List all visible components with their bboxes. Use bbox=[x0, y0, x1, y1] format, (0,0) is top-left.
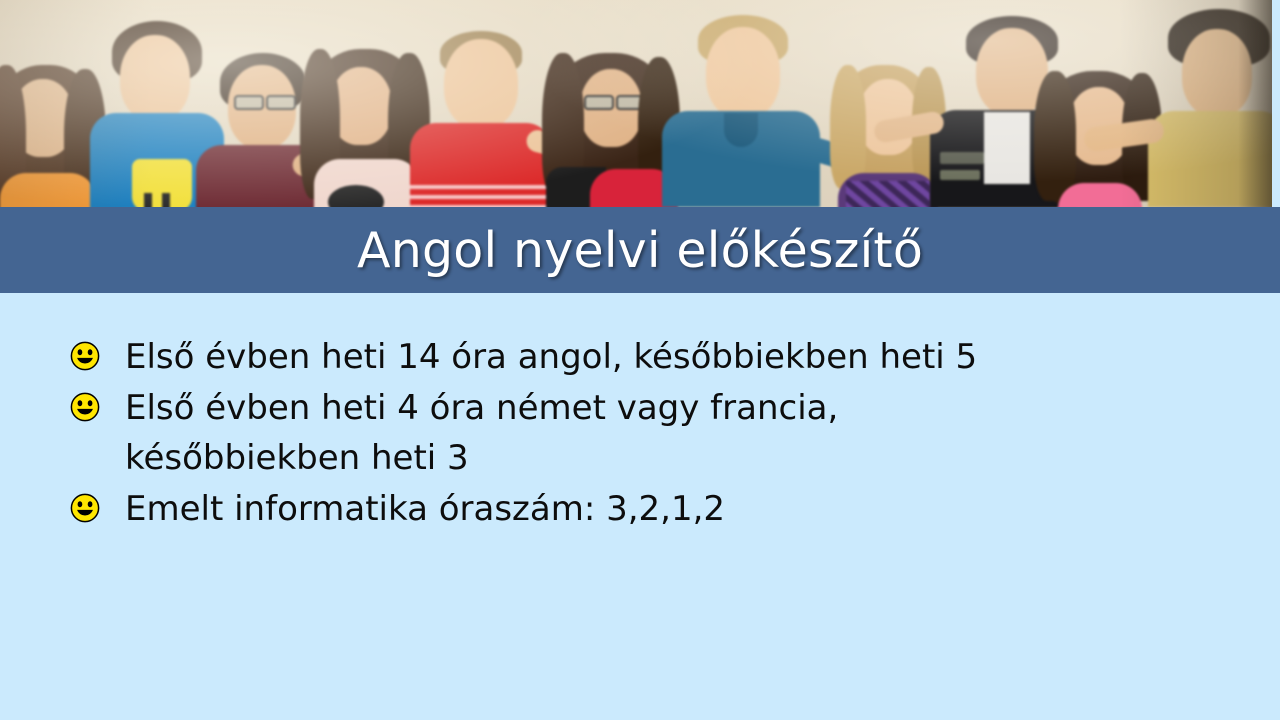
list-item: Első évben heti 4 óra német vagy francia… bbox=[70, 384, 1240, 483]
smiley-face-bullet-icon bbox=[70, 493, 100, 523]
slide-title-band: Angol nyelvi előkészítő bbox=[0, 207, 1280, 293]
list-item: Első évben heti 14 óra angol, későbbiekb… bbox=[70, 333, 1240, 382]
presentation-slide: Angol nyelvi előkészítő Első évben heti … bbox=[0, 0, 1280, 720]
list-item: Emelt informatika óraszám: 3,2,1,2 bbox=[70, 485, 1240, 534]
photo-lighting-overlay bbox=[0, 0, 1272, 207]
smiley-face-bullet-icon bbox=[70, 341, 100, 371]
smiley-face-bullet-icon bbox=[70, 392, 100, 422]
bullet-text: Emelt informatika óraszám: 3,2,1,2 bbox=[125, 485, 725, 534]
slide-body: Első évben heti 14 óra angol, későbbiekb… bbox=[0, 293, 1280, 720]
photo-right-vignette bbox=[1238, 0, 1272, 207]
bullet-list: Első évben heti 14 óra angol, későbbiekb… bbox=[70, 333, 1240, 536]
group-photo-banner bbox=[0, 0, 1272, 207]
bullet-text: Első évben heti 4 óra német vagy francia… bbox=[125, 384, 1025, 483]
slide-title: Angol nyelvi előkészítő bbox=[357, 226, 923, 275]
bullet-text: Első évben heti 14 óra angol, későbbiekb… bbox=[125, 333, 977, 382]
